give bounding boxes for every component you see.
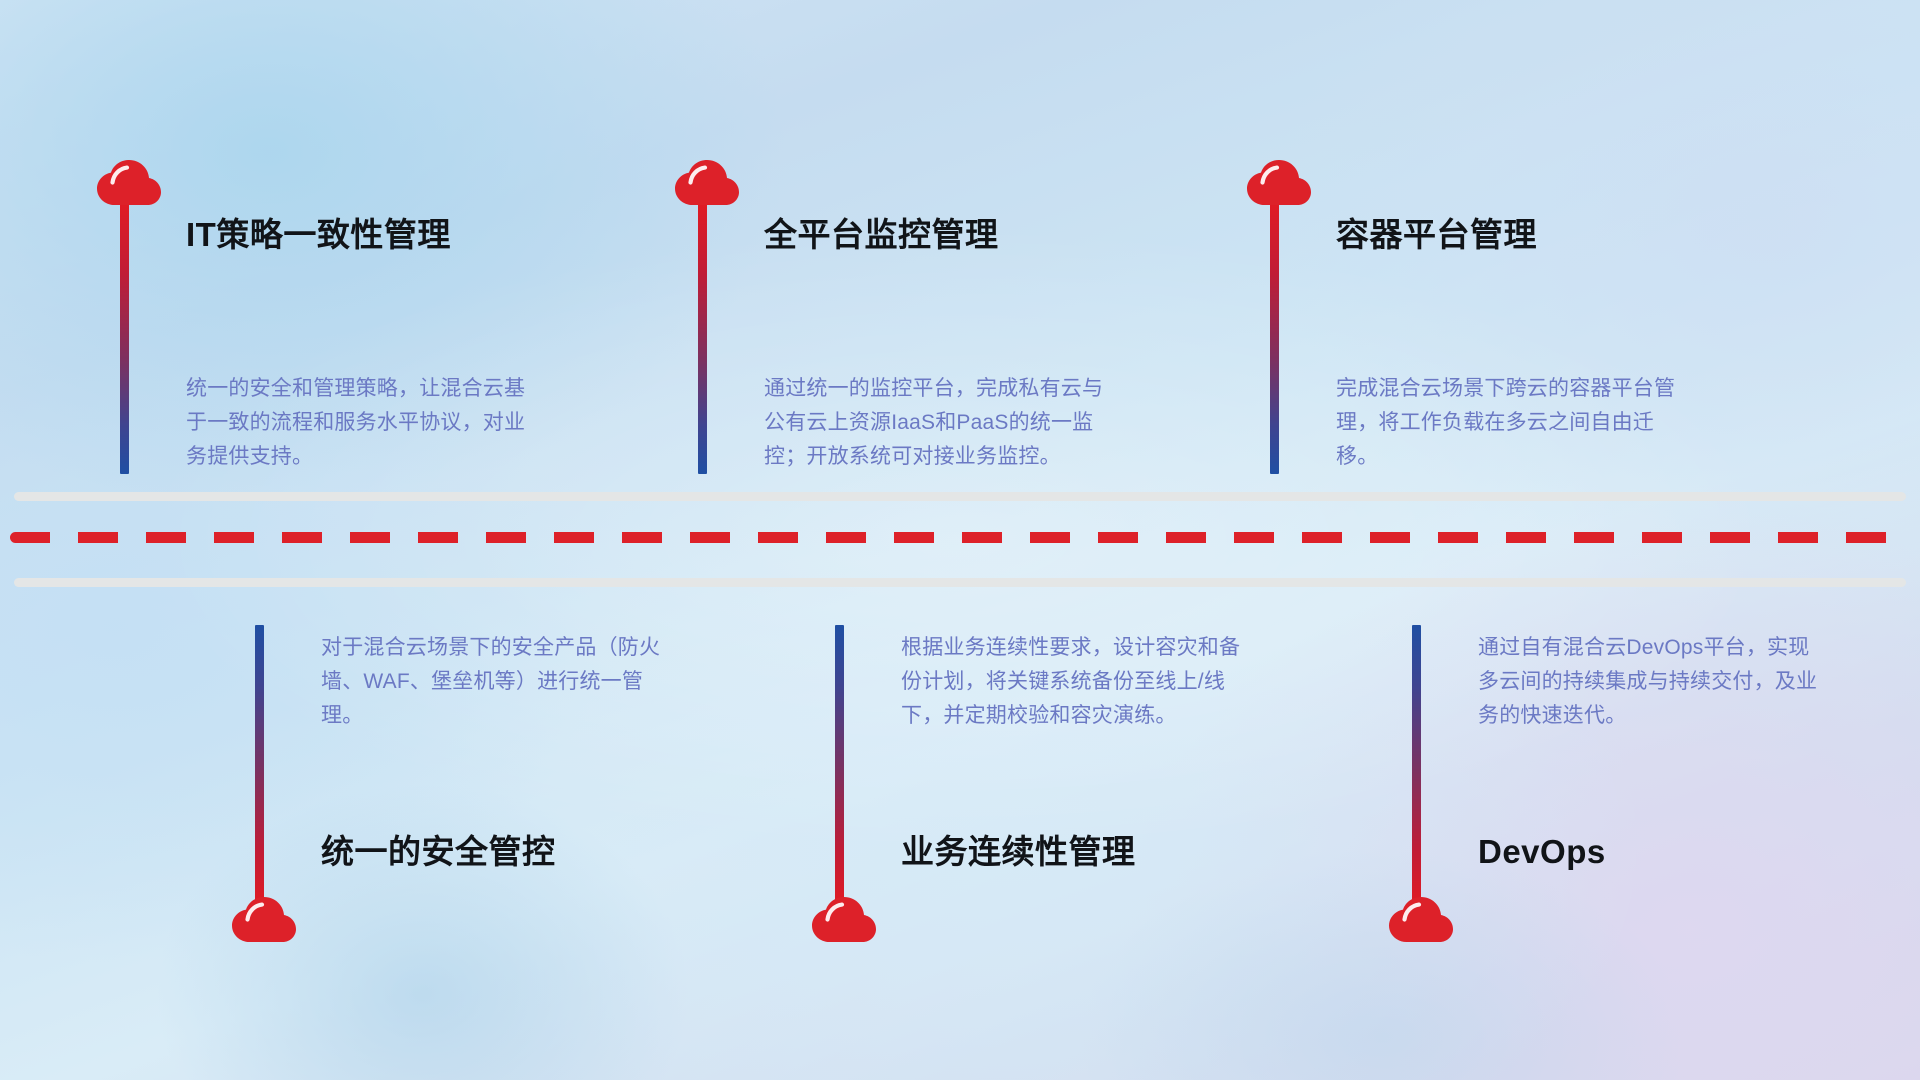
stem-bar	[1412, 625, 1421, 905]
card-body: 通过统一的监控平台，完成私有云与公有云上资源IaaS和PaaS的统一监控；开放系…	[764, 372, 1114, 474]
cloud-icon	[1247, 160, 1311, 206]
card-body: 通过自有混合云DevOps平台，实现多云间的持续集成与持续交付，及业务的快速迭代…	[1478, 631, 1828, 733]
card-body: 根据业务连续性要求，设计容灾和备份计划，将关键系统备份至线上/线下，并定期校验和…	[901, 631, 1251, 733]
cloud-icon	[97, 160, 161, 206]
card-body: 完成混合云场景下跨云的容器平台管理，将工作负载在多云之间自由迁移。	[1336, 372, 1686, 474]
stem-bar	[120, 204, 129, 474]
cloud-icon	[675, 160, 739, 206]
solid-line-bottom	[14, 578, 1906, 587]
card-title: 统一的安全管控	[321, 835, 556, 868]
stem-bar	[698, 204, 707, 474]
card-body: 对于混合云场景下的安全产品（防火墙、WAF、堡垒机等）进行统一管理。	[321, 631, 671, 733]
card-title: 容器平台管理	[1336, 218, 1537, 251]
infographic-canvas: IT策略一致性管理 统一的安全和管理策略，让混合云基于一致的流程和服务水平协议，…	[0, 0, 1920, 1080]
card-title: 全平台监控管理	[764, 218, 999, 251]
stem-bar	[255, 625, 264, 905]
card-title: IT策略一致性管理	[186, 218, 451, 251]
solid-line-top	[14, 492, 1906, 501]
cloud-icon	[232, 897, 296, 943]
card-body: 统一的安全和管理策略，让混合云基于一致的流程和服务水平协议，对业务提供支持。	[186, 372, 536, 474]
card-title: DevOps	[1478, 835, 1606, 868]
red-dashed-divider	[10, 532, 1910, 543]
cloud-icon	[812, 897, 876, 943]
card-title: 业务连续性管理	[901, 835, 1136, 868]
stem-bar	[835, 625, 844, 905]
cloud-icon	[1389, 897, 1453, 943]
stem-bar	[1270, 204, 1279, 474]
